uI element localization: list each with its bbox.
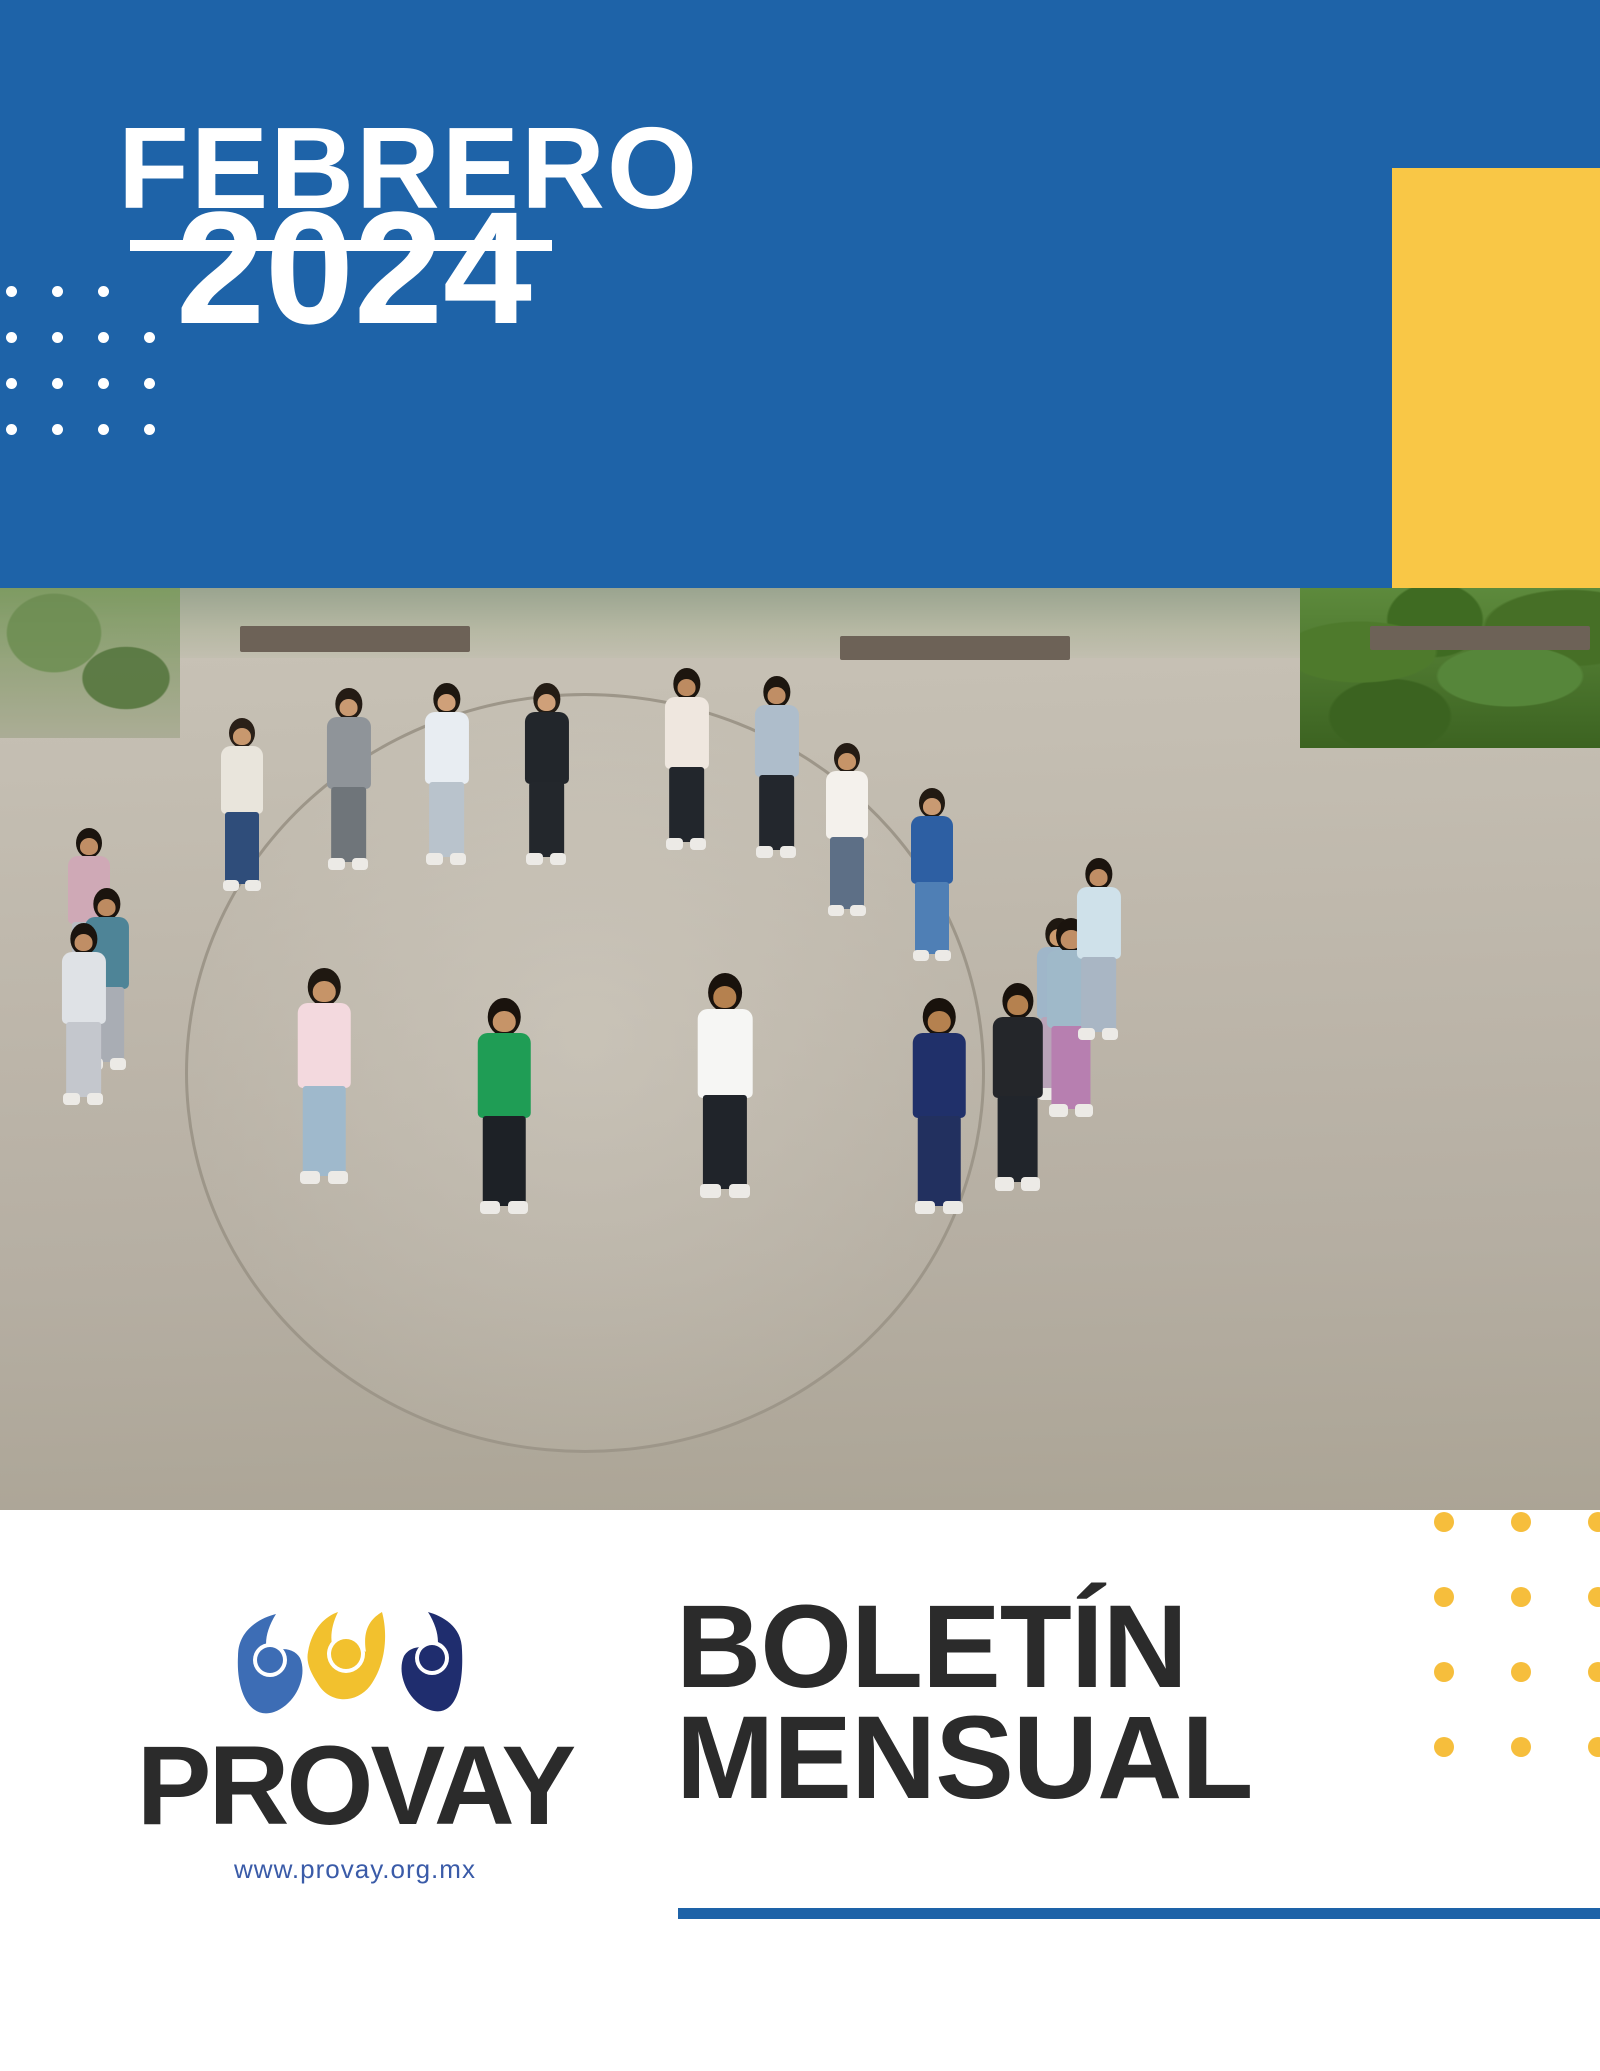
- footer-dot: [1511, 1512, 1531, 1532]
- cover-photo: [0, 588, 1600, 1510]
- logo-figure-blue: [238, 1614, 303, 1713]
- photo-person: [820, 743, 874, 923]
- issue-year: 2024: [176, 188, 532, 348]
- header-dot: [144, 378, 155, 389]
- header-dot: [98, 332, 109, 343]
- photo-person: [1070, 858, 1127, 1047]
- header-dot: [52, 378, 63, 389]
- header-dot: [98, 378, 109, 389]
- photo-bench-1: [240, 626, 470, 652]
- header-banner: FEBRERO 2024: [0, 0, 1600, 588]
- photo-bench-2: [840, 636, 1070, 660]
- provay-logo[interactable]: PROVAY www.provay.org.mx: [105, 1600, 605, 1920]
- photo-person: [290, 968, 358, 1193]
- photo-person: [470, 998, 538, 1223]
- logo-wordmark: PROVAY: [105, 1730, 605, 1842]
- header-dot: [6, 332, 17, 343]
- header-dot: [52, 424, 63, 435]
- logo-figure-yellow: [307, 1612, 385, 1699]
- photo-person: [690, 973, 760, 1207]
- photo-foliage-left: [0, 588, 180, 738]
- photo-bench-3: [1370, 626, 1590, 650]
- header-dot: [52, 332, 63, 343]
- header-dot: [98, 424, 109, 435]
- photo-person: [55, 923, 112, 1112]
- header-dot: [52, 286, 63, 297]
- header-dot: [98, 286, 109, 297]
- headline-line-2: MENSUAL: [676, 1703, 1600, 1814]
- photo-person: [658, 668, 715, 857]
- header-dot-pattern: [0, 286, 176, 456]
- photo-person: [215, 718, 269, 898]
- logo-website-url[interactable]: www.provay.org.mx: [105, 1854, 605, 1885]
- header-dot: [6, 424, 17, 435]
- photo-person: [418, 683, 475, 872]
- footer-dot: [1588, 1512, 1600, 1532]
- photo-person: [905, 998, 973, 1223]
- photo-person: [748, 676, 805, 865]
- header-accent-block: [1392, 168, 1600, 588]
- photo-person: [905, 788, 959, 968]
- footer-dot: [1434, 1512, 1454, 1532]
- logo-wordmark-vay: VAY: [371, 1723, 574, 1848]
- photo-foliage-right: [1300, 588, 1600, 748]
- header-dot: [144, 424, 155, 435]
- header-dot: [144, 332, 155, 343]
- newsletter-headline: BOLETÍN MENSUAL: [676, 1592, 1600, 1814]
- logo-figures-icon: [230, 1612, 470, 1732]
- photo-person: [518, 683, 575, 872]
- headline-underline-rule: [678, 1908, 1600, 1919]
- logo-figure-navy: [402, 1612, 463, 1711]
- header-dot: [6, 286, 17, 297]
- photo-person: [320, 688, 377, 877]
- header-dot: [6, 378, 17, 389]
- logo-wordmark-pro: PRO: [137, 1723, 371, 1848]
